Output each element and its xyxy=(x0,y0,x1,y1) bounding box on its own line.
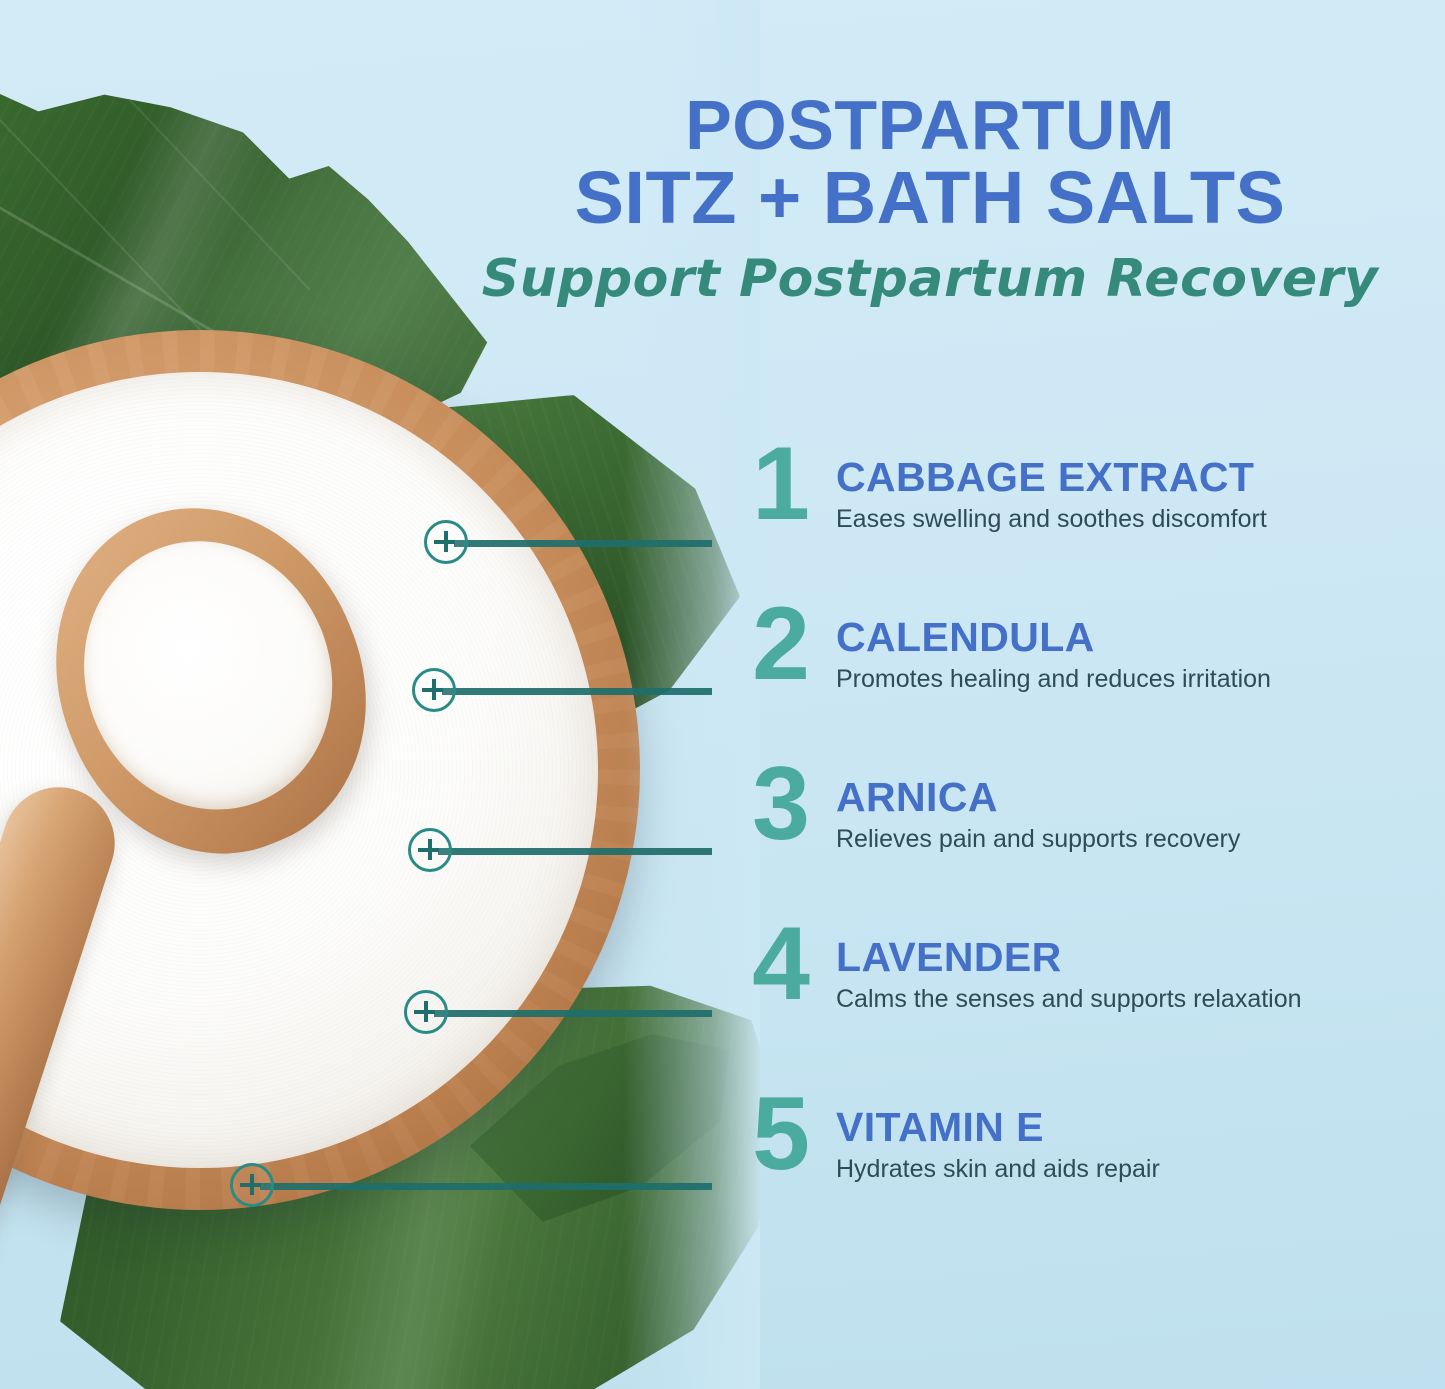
ingredient-number: 2 xyxy=(726,600,836,689)
page-title-line-2: SITZ + BATH SALTS xyxy=(470,163,1390,233)
product-infographic-poster: POSTPARTUM SITZ + BATH SALTS Support Pos… xyxy=(0,0,1445,1389)
callout-plus-marker-icon[interactable] xyxy=(230,1163,274,1207)
page-title-line-1: POSTPARTUM xyxy=(470,92,1390,159)
callout-connector-line xyxy=(442,688,712,695)
ingredient-row: 5VITAMIN EHydrates skin and aids repair xyxy=(726,1090,1426,1184)
callout-connector-line xyxy=(434,1010,712,1017)
ingredient-text-block: CALENDULAPromotes healing and reduces ir… xyxy=(836,600,1271,694)
callout-plus-marker-icon[interactable] xyxy=(424,520,468,564)
ingredient-text-block: ARNICARelieves pain and supports recover… xyxy=(836,760,1240,854)
ingredient-text-block: CABBAGE EXTRACTEases swelling and soothe… xyxy=(836,440,1267,534)
ingredient-row: 4LAVENDERCalms the senses and supports r… xyxy=(726,920,1426,1014)
callout-plus-marker-icon[interactable] xyxy=(412,668,456,712)
ingredient-description: Relieves pain and supports recovery xyxy=(836,825,1240,854)
callout-connector-line xyxy=(260,1183,712,1190)
ingredient-number: 4 xyxy=(726,920,836,1009)
ingredient-description: Calms the senses and supports relaxation xyxy=(836,985,1302,1014)
ingredient-name: ARNICA xyxy=(836,776,1240,819)
page-subtitle: Support Postpartum Recovery xyxy=(470,249,1390,309)
callout-connector-line xyxy=(454,540,712,547)
callout-plus-marker-icon[interactable] xyxy=(404,990,448,1034)
ingredient-number: 5 xyxy=(726,1090,836,1179)
ingredient-description: Eases swelling and soothes discomfort xyxy=(836,505,1267,534)
ingredient-text-block: LAVENDERCalms the senses and supports re… xyxy=(836,920,1302,1014)
callout-connector-line xyxy=(438,848,712,855)
ingredient-name: VITAMIN E xyxy=(836,1106,1160,1149)
ingredient-description: Hydrates skin and aids repair xyxy=(836,1155,1160,1184)
ingredient-row: 2CALENDULAPromotes healing and reduces i… xyxy=(726,600,1426,694)
ingredient-row: 3ARNICARelieves pain and supports recove… xyxy=(726,760,1426,854)
ingredient-number: 3 xyxy=(726,760,836,849)
ingredient-text-block: VITAMIN EHydrates skin and aids repair xyxy=(836,1090,1160,1184)
ingredient-description: Promotes healing and reduces irritation xyxy=(836,665,1271,694)
ingredient-name: CABBAGE EXTRACT xyxy=(836,456,1267,499)
callout-plus-marker-icon[interactable] xyxy=(408,828,452,872)
ingredient-number: 1 xyxy=(726,440,836,529)
page-title-block: POSTPARTUM SITZ + BATH SALTS Support Pos… xyxy=(470,92,1390,309)
ingredient-name: LAVENDER xyxy=(836,936,1302,979)
ingredient-name: CALENDULA xyxy=(836,616,1271,659)
ingredient-row: 1CABBAGE EXTRACTEases swelling and sooth… xyxy=(726,440,1426,534)
